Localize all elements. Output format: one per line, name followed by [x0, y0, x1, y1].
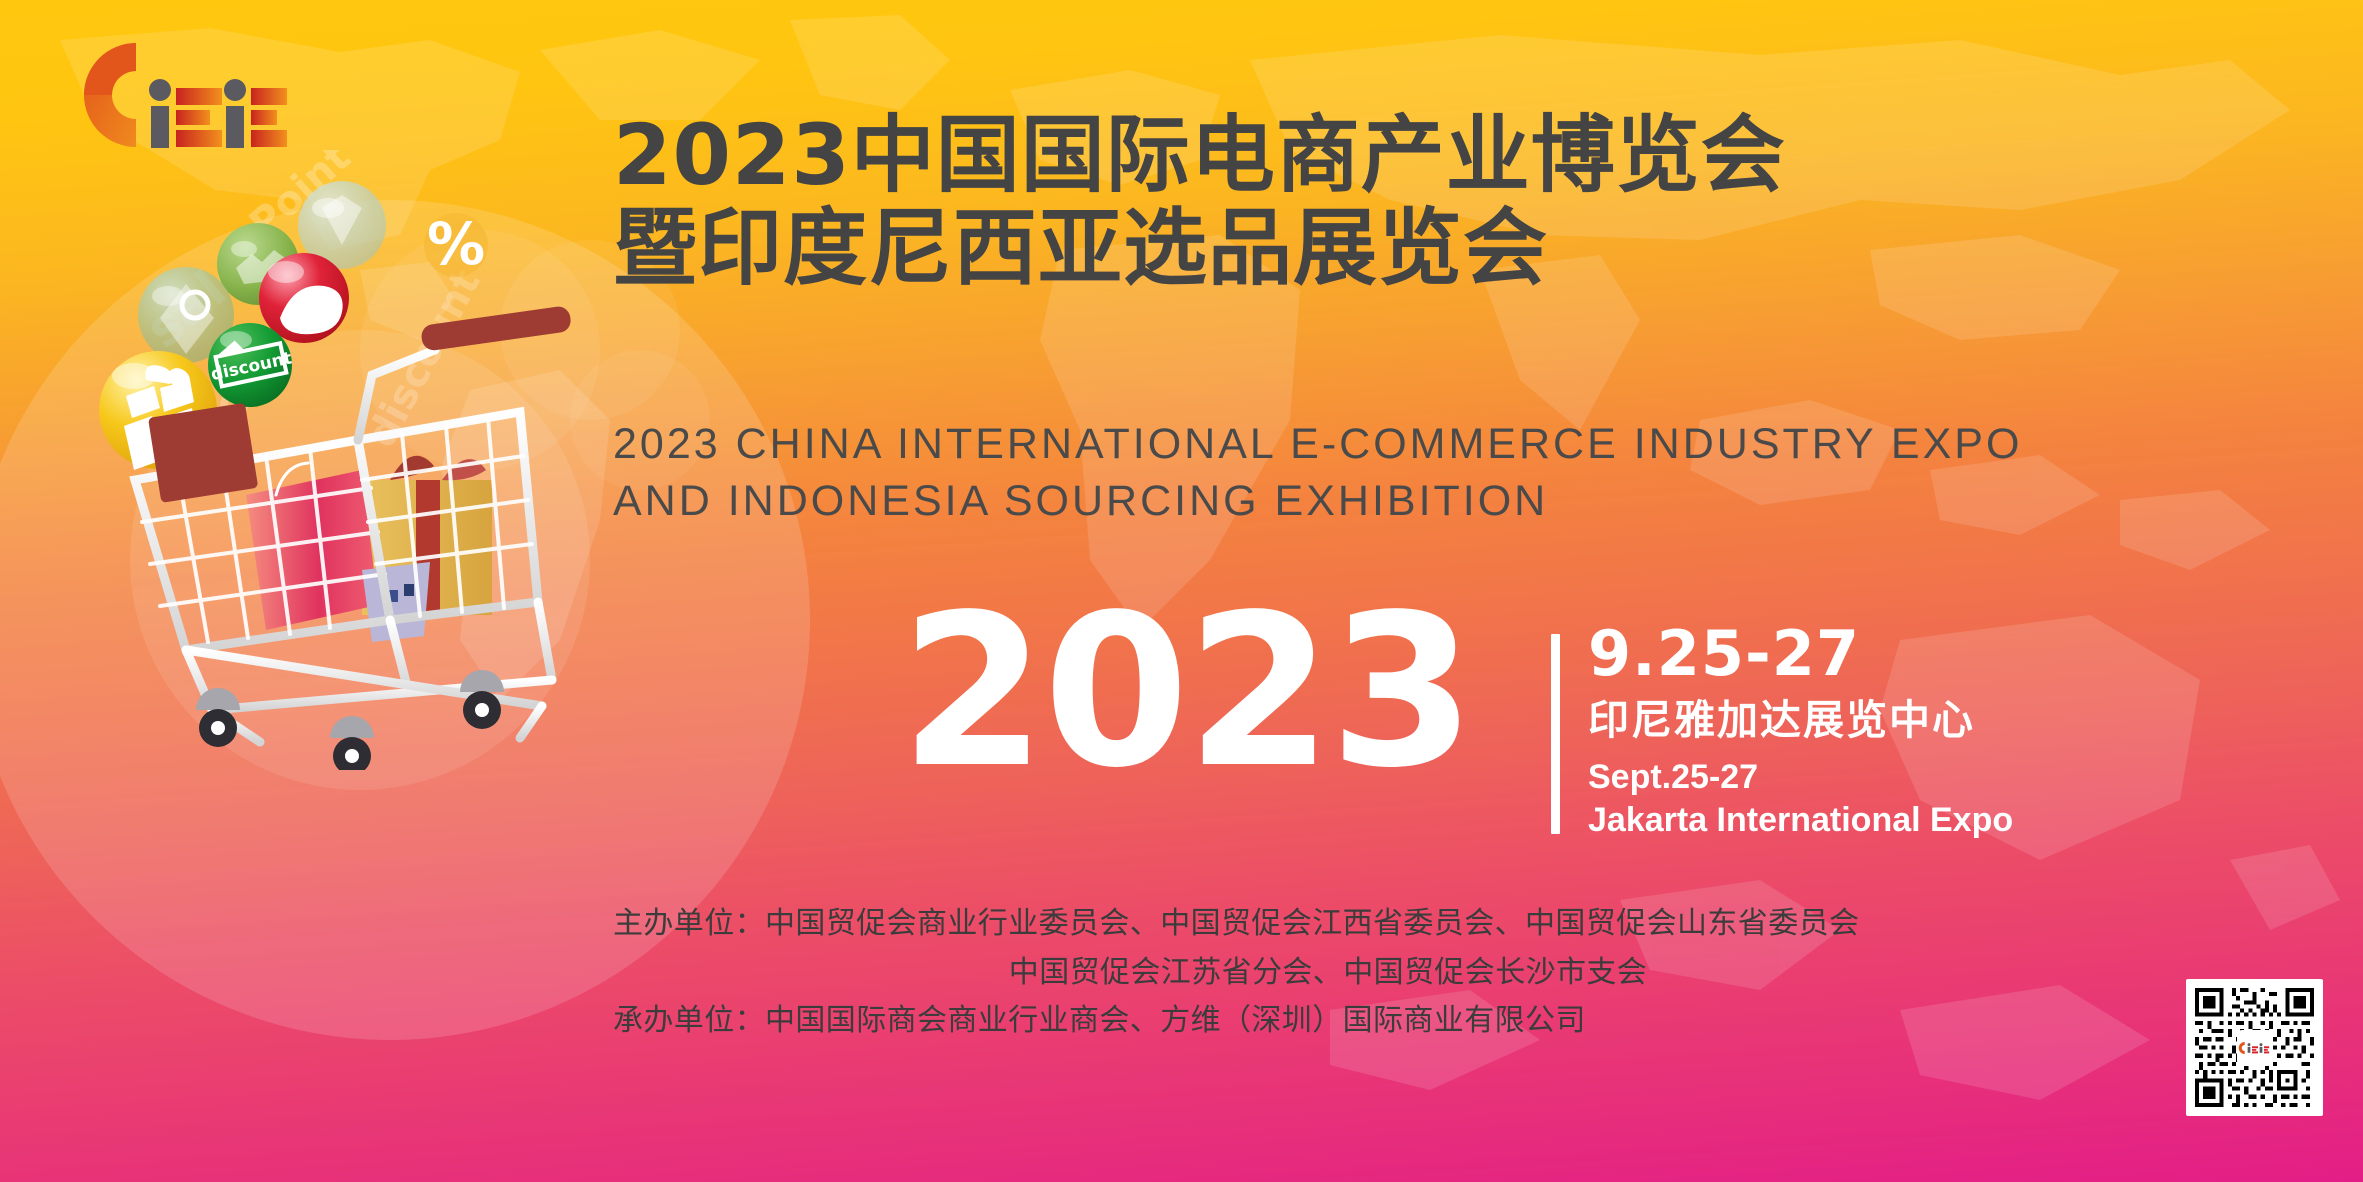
organizer-line-3: 承办单位：中国国际商会商业行业商会、方维（深圳）国际商业有限公司 [613, 997, 2083, 1046]
percent-symbol: % [427, 210, 485, 278]
vertical-divider [1551, 634, 1560, 834]
shopping-cart-illustration: Point sale Price discount % [90, 150, 610, 770]
title-en-line2: AND INDONESIA SOURCING EXHIBITION [613, 473, 2113, 530]
title-en-line1: 2023 CHINA INTERNATIONAL E-COMMERCE INDU… [613, 416, 2113, 473]
event-date-block: 9.25-27 印尼雅加达展览中心 Sept.25-27 Jakarta Int… [1588, 623, 2013, 841]
title-en-block: 2023 CHINA INTERNATIONAL E-COMMERCE INDU… [613, 416, 2113, 530]
title-cn-line1: 2023中国国际电商产业博览会 [613, 112, 2063, 199]
organizers-block: 主办单位：中国贸促会商业行业委员会、中国贸促会江西省委员会、中国贸促会山东省委员… [613, 900, 2083, 1046]
title-cn-line2: 暨印度尼西亚选品展览会 [613, 205, 2063, 292]
event-venue-cn: 印尼雅加达展览中心 [1588, 693, 2013, 748]
qr-code[interactable] [2186, 979, 2323, 1116]
organizer-line-1: 主办单位：中国贸促会商业行业委员会、中国贸促会江西省委员会、中国贸促会山东省委员… [613, 900, 2083, 949]
title-block: 2023中国国际电商产业博览会 暨印度尼西亚选品展览会 [613, 112, 2063, 291]
bubble-percent: % [424, 210, 488, 278]
organizer-line-2: 中国贸促会江苏省分会、中国贸促会长沙市支会 [613, 949, 2083, 998]
bubble-red-tag [259, 253, 349, 343]
event-banner: Point sale Price discount % [0, 0, 2363, 1182]
cieie-logo[interactable] [72, 40, 287, 150]
qr-center-logo [2237, 1030, 2273, 1066]
event-venue-en: Jakarta International Expo [1588, 799, 2013, 842]
hero-year: 2023 [900, 587, 1472, 797]
event-date: 9.25-27 [1588, 623, 2013, 685]
event-date-en: Sept.25-27 [1588, 756, 2013, 799]
